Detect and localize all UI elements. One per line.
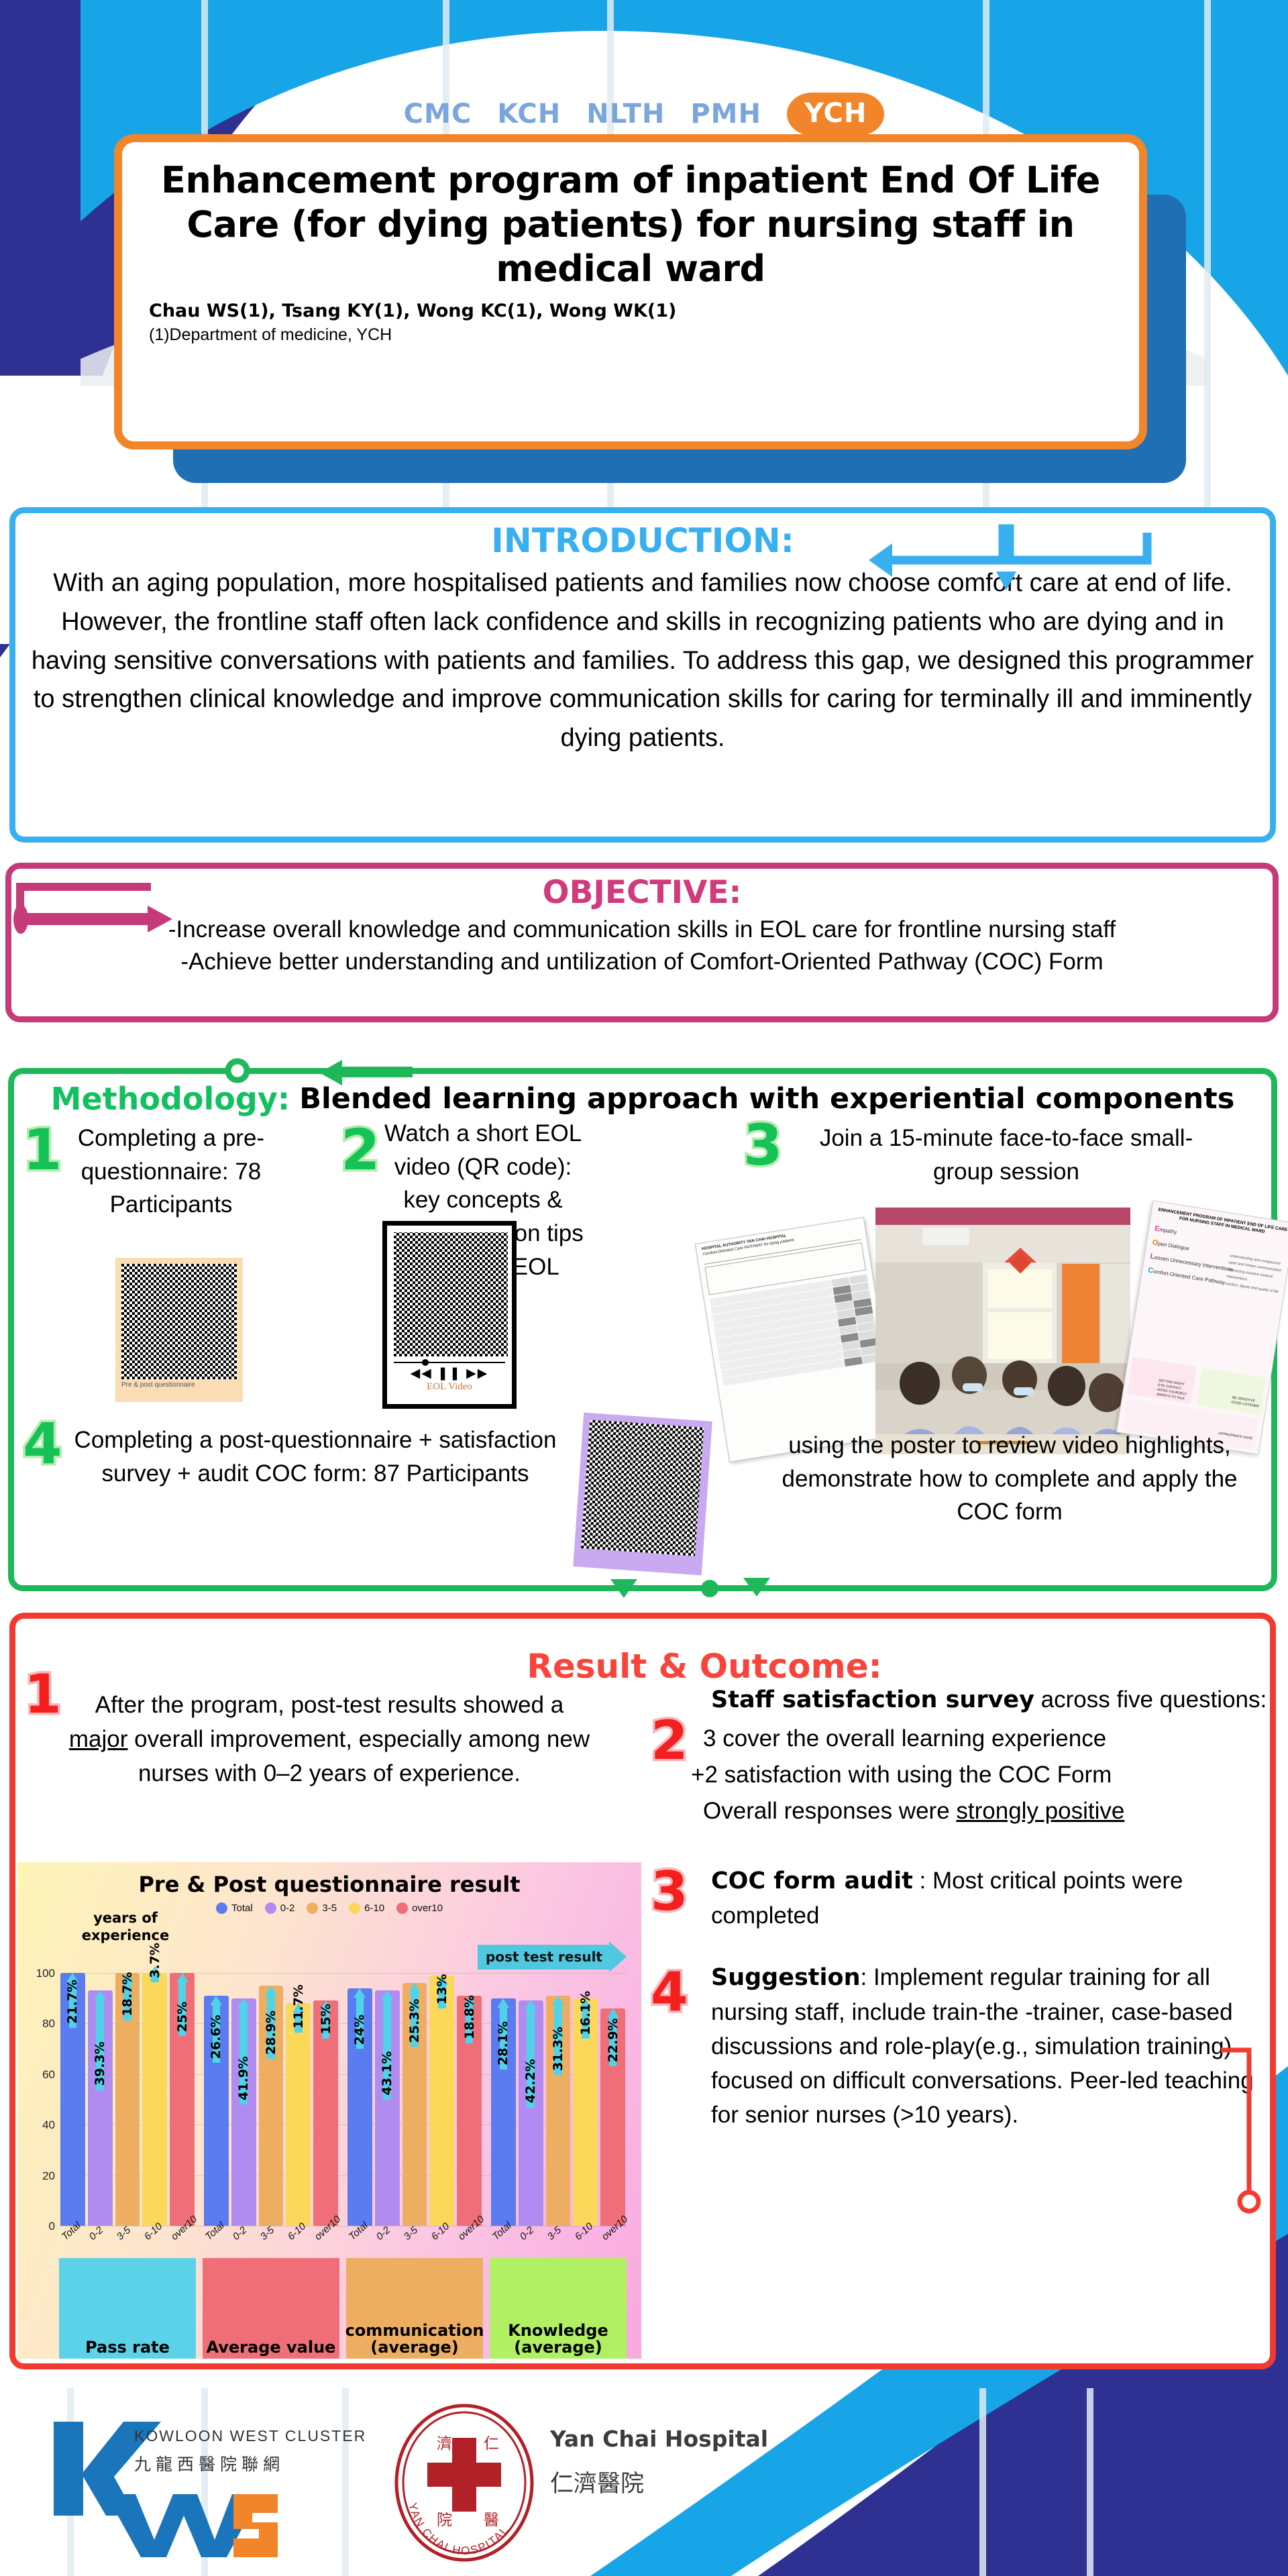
ytick-20: 20 xyxy=(25,2169,55,2183)
result-1-badge: 1 xyxy=(24,1668,62,1721)
bar-label-3-5: 28.9% xyxy=(264,1994,278,2055)
title-line-1: Enhancement program of inpatient End Of … xyxy=(161,159,1100,201)
introduction-arrow-icon xyxy=(865,523,1201,610)
bar-label-3-5: 18.7% xyxy=(120,1981,135,2016)
ytick-80: 80 xyxy=(25,2017,55,2031)
legend-dot-0-2 xyxy=(265,1902,276,1914)
svg-text:院: 院 xyxy=(437,2512,452,2529)
title-line-3: medical ward xyxy=(496,248,765,290)
step-1-number: 1 xyxy=(23,1122,62,1178)
result-3-badge: 3 xyxy=(651,1865,688,1919)
affiliation: (1)Department of medicine, YCH xyxy=(149,325,1112,345)
group-label: Average value xyxy=(207,2339,336,2356)
cluster-tab-bar: CMC KCH NLTH PMH YCH xyxy=(0,93,1288,136)
qr-code-eol-video[interactable] xyxy=(394,1232,508,1356)
result-heading: Result & Outcome: xyxy=(470,1647,939,1686)
result-2-line3: +2 satisfaction with using the COC Form xyxy=(691,1758,1261,1792)
chart-plot-area: 02040608010021.7%Total39.3%0-218.7%3-53.… xyxy=(59,1973,627,2226)
step-3-after-text: using the poster to review video highlig… xyxy=(765,1429,1254,1529)
ytick-60: 60 xyxy=(25,2068,55,2082)
bar-label-6-10: 11.7% xyxy=(291,2011,306,2029)
chart-group-communication--average-: communication (average) xyxy=(346,2258,483,2359)
xtick-0-2: 0-2 xyxy=(231,2224,249,2243)
legend-dot-6-10 xyxy=(349,1902,360,1914)
result-4-bold: Suggestion xyxy=(711,1964,861,1991)
eol-poster-photo: ENHANCEMENT PROGRAM OF INPATIENT END OF … xyxy=(1116,1200,1288,1454)
step-3-text: Join a 15-minute face-to-face small-grou… xyxy=(792,1122,1221,1188)
footer-logos: KOWLOON WEST CLUSTER 九龍西醫院聯網 濟 仁 院 醫 YAN… xyxy=(0,2385,1288,2576)
step-4-number: 4 xyxy=(23,1415,62,1472)
legend-label-over10: over10 xyxy=(412,1902,443,1914)
chart-group-average-value: Average value xyxy=(203,2258,339,2359)
bar-pass-rate-6-10 xyxy=(142,1973,167,2226)
objective-arrow-icon xyxy=(3,867,285,974)
result-2-badge: 2 xyxy=(651,1714,688,1768)
video-caption: EOL Video xyxy=(394,1381,505,1393)
bar-label-6-10: 13% xyxy=(435,1984,449,2004)
author-list: Chau WS(1), Tsang KY(1), Wong KC(1), Won… xyxy=(149,301,1112,321)
tab-pmh[interactable]: PMH xyxy=(690,99,761,129)
tab-cmc[interactable]: CMC xyxy=(404,99,472,129)
step-3-badge: 3 xyxy=(743,1117,774,1197)
step-1-text: Completing a pre-questionnaire: 78 Parti… xyxy=(64,1122,278,1222)
ych-name-en: Yan Chai Hospital xyxy=(550,2426,768,2452)
post-test-annotation-label: post test result xyxy=(478,1945,609,1970)
page-title: Enhancement program of inpatient End Of … xyxy=(149,158,1112,291)
step-4-qr-card xyxy=(573,1413,712,1576)
step-1-badge: 1 xyxy=(23,1122,54,1202)
legend-dot-over10 xyxy=(396,1902,408,1914)
xtick-3-5: 3-5 xyxy=(401,2224,419,2243)
bar-label-over10: 15% xyxy=(319,2008,333,2035)
bar-label-Total: 26.6% xyxy=(209,2004,223,2059)
tab-ych[interactable]: YCH xyxy=(787,93,884,136)
result-3-bold: COC form audit xyxy=(711,1868,913,1894)
result-2-rest: across five questions: xyxy=(1034,1686,1267,1713)
qr-code-post-questionnaire[interactable] xyxy=(581,1419,704,1556)
legend-label-0-2: 0-2 xyxy=(280,1902,295,1914)
step-4-text: Completing a post-questionnaire + satisf… xyxy=(74,1424,557,1490)
bar-label-6-10: 16.1% xyxy=(578,2006,593,2035)
methodology-connector-icon xyxy=(201,1046,443,1093)
chart-title: Pre & Post questionnaire result xyxy=(17,1862,641,1897)
result-pin-icon xyxy=(1207,2046,1268,2227)
legend-dot-3-5 xyxy=(307,1902,318,1914)
result-1-number: 1 xyxy=(24,1668,62,1721)
qr-code-pre-questionnaire[interactable] xyxy=(121,1264,237,1379)
bar-label-3-5: 31.3% xyxy=(551,2004,566,2071)
result-4-number: 4 xyxy=(651,1966,688,2019)
gridline-0 xyxy=(59,2226,627,2226)
ych-seal-icon: 濟 仁 院 醫 YAN CHAI HOSPITAL xyxy=(392,2403,537,2563)
step-1-qr-card: Pre & post questionnaire xyxy=(115,1258,243,1402)
title-line-2: Care (for dying patients) for nursing st… xyxy=(186,203,1074,246)
bar-label-Total: 21.7% xyxy=(65,1981,80,2024)
ytick-0: 0 xyxy=(25,2220,55,2233)
xtick-0-2: 0-2 xyxy=(374,2224,392,2243)
bar-label-0-2: 42.2% xyxy=(523,2008,538,2103)
bar-average-value-6-10 xyxy=(286,2003,311,2226)
legend-item-6-10: 6-10 xyxy=(349,1902,384,1914)
step-3-number: 3 xyxy=(743,1117,782,1173)
bar-label-over10: 22.9% xyxy=(606,2017,621,2062)
result-2-line4: Overall responses were strongly positive xyxy=(703,1794,1273,1828)
xtick-3-5: 3-5 xyxy=(545,2224,563,2243)
result-2-bold: Staff satisfaction survey xyxy=(711,1686,1034,1713)
methodology-bottom-connector-icon xyxy=(590,1576,805,1610)
bar-label-over10: 18.8% xyxy=(462,2004,477,2039)
xtick-0-2: 0-2 xyxy=(518,2224,536,2243)
training-session-photo xyxy=(875,1207,1130,1454)
kwc-name-zh: 九龍西醫院聯網 xyxy=(134,2451,284,2475)
svg-text:濟: 濟 xyxy=(437,2435,452,2453)
bar-label-Total: 24% xyxy=(352,1996,367,2045)
ytick-100: 100 xyxy=(25,1967,55,1980)
post-test-arrow-icon xyxy=(609,1941,627,1972)
step-2-badge: 2 xyxy=(341,1122,372,1202)
legend-label-Total: Total xyxy=(231,1902,253,1914)
step-4-badge: 4 xyxy=(23,1415,54,1496)
group-label: Knowledge (average) xyxy=(508,2322,608,2356)
legend-label-3-5: 3-5 xyxy=(322,1902,337,1914)
step-2-video-frame: ◀◀ ❚❚ ▶▶ EOL Video xyxy=(382,1221,517,1409)
svg-text:醫: 醫 xyxy=(484,2512,499,2529)
result-4-badge: 4 xyxy=(651,1966,688,2019)
bar-label-over10: 25% xyxy=(175,1981,190,2032)
result-2-line2: 3 cover the overall learning experience xyxy=(703,1721,1253,1756)
legend-item-3-5: 3-5 xyxy=(307,1902,337,1914)
bar-communication--average--6-10 xyxy=(429,1976,454,2226)
post-test-annotation: post test result xyxy=(478,1941,627,1972)
group-label: Pass rate xyxy=(85,2339,170,2356)
coc-form-photo: HOSPITAL AUTHORITY YAN CHAI HOSPITAL Com… xyxy=(695,1217,898,1462)
ytick-40: 40 xyxy=(25,2118,55,2132)
legend-label-6-10: 6-10 xyxy=(364,1902,384,1914)
qr-caption-1: Pre & post questionnaire xyxy=(121,1381,237,1389)
xtick-3-5: 3-5 xyxy=(114,2224,132,2243)
chart-group-pass-rate: Pass rate xyxy=(59,2258,196,2359)
bar-label-0-2: 39.3% xyxy=(93,1998,107,2086)
legend-dot-Total xyxy=(216,1902,227,1914)
chart-group-knowledge--average-: Knowledge (average) xyxy=(490,2258,627,2359)
bar-label-3-5: 25.3% xyxy=(407,1991,422,2043)
result-3-text: COC form audit : Most critical points we… xyxy=(711,1864,1275,1933)
svg-text:仁: 仁 xyxy=(484,2435,499,2453)
poster-title-card: Enhancement program of inpatient End Of … xyxy=(114,134,1147,449)
kwc-name-en: KOWLOON WEST CLUSTER xyxy=(134,2427,366,2445)
legend-item-over10: over10 xyxy=(396,1902,443,1914)
result-2-intro: Staff satisfaction survey across five qu… xyxy=(711,1682,1275,1717)
group-label: communication (average) xyxy=(345,2322,484,2356)
step-2-number: 2 xyxy=(341,1122,380,1178)
bar-label-0-2: 43.1% xyxy=(380,1998,394,2095)
tab-nlth[interactable]: NLTH xyxy=(586,99,665,129)
chart-xaxis-note: years of experience xyxy=(75,1909,176,1945)
result-2-number: 2 xyxy=(651,1714,688,1768)
tab-kch[interactable]: KCH xyxy=(497,99,561,129)
video-controls-icon[interactable]: ◀◀ ❚❚ ▶▶ xyxy=(394,1366,505,1381)
pre-post-questionnaire-chart: Pre & Post questionnaire result Total0-2… xyxy=(17,1862,641,2359)
result-1-text: After the program, post-test results sho… xyxy=(64,1688,594,1790)
legend-item-Total: Total xyxy=(216,1902,253,1914)
bar-label-Total: 28.1% xyxy=(496,2006,511,2065)
result-3-number: 3 xyxy=(651,1865,688,1919)
xtick-3-5: 3-5 xyxy=(258,2224,276,2243)
bar-label-6-10: 3.7% xyxy=(148,1943,162,1978)
result-2-underline: strongly positive xyxy=(956,1798,1124,1824)
result-4-text: Suggestion: Implement regular training f… xyxy=(711,1960,1276,2132)
ych-name-zh: 仁濟醫院 xyxy=(550,2465,644,2499)
bar-label-0-2: 41.9% xyxy=(236,2006,251,2100)
legend-item-0-2: 0-2 xyxy=(265,1902,295,1914)
xtick-0-2: 0-2 xyxy=(87,2224,105,2243)
